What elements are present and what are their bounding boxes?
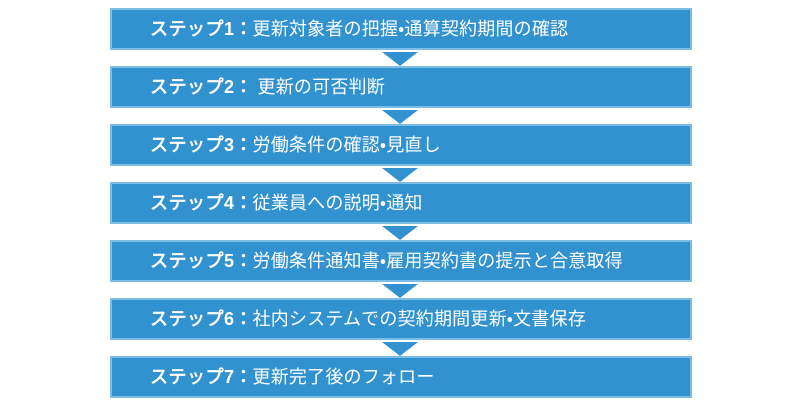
step-row: ステップ1：更新対象者の把握・通算契約期間の確認 bbox=[0, 0, 800, 58]
step-bar-1[interactable]: ステップ1：更新対象者の把握・通算契約期間の確認 bbox=[110, 8, 692, 50]
step-row: ステップ7：更新完了後のフォロー bbox=[0, 348, 800, 406]
step-separator: ： bbox=[235, 251, 253, 271]
step-row: ステップ5：労働条件通知書・雇用契約書の提示と合意取得 bbox=[0, 232, 800, 290]
step-separator: ： bbox=[235, 77, 258, 97]
step-index-label: ステップ7 bbox=[150, 367, 235, 387]
step-separator: ： bbox=[235, 135, 253, 155]
step-label-2: ステップ2： 更新の可否判断 bbox=[112, 78, 385, 97]
step-index-label: ステップ4 bbox=[150, 193, 235, 213]
step-row: ステップ6：社内システムでの契約期間更新・文書保存 bbox=[0, 290, 800, 348]
step-bar-3[interactable]: ステップ3：労働条件の確認・見直し bbox=[110, 124, 692, 166]
step-description: 労働条件の確認・見直し bbox=[253, 135, 441, 155]
step-description: 更新の可否判断 bbox=[258, 77, 385, 97]
step-index-label: ステップ5 bbox=[150, 251, 235, 271]
step-separator: ： bbox=[235, 367, 253, 387]
step-bar-5[interactable]: ステップ5：労働条件通知書・雇用契約書の提示と合意取得 bbox=[110, 240, 692, 282]
step-index-label: ステップ6 bbox=[150, 309, 235, 329]
step-label-6: ステップ6：社内システムでの契約期間更新・文書保存 bbox=[112, 310, 586, 329]
step-description: 更新完了後のフォロー bbox=[253, 367, 435, 387]
step-label-1: ステップ1：更新対象者の把握・通算契約期間の確認 bbox=[112, 20, 568, 39]
step-index-label: ステップ1 bbox=[150, 19, 235, 39]
step-separator: ： bbox=[235, 309, 253, 329]
step-label-5: ステップ5：労働条件通知書・雇用契約書の提示と合意取得 bbox=[112, 252, 623, 271]
step-description: 労働条件通知書・雇用契約書の提示と合意取得 bbox=[253, 251, 623, 271]
step-description: 更新対象者の把握・通算契約期間の確認 bbox=[253, 19, 569, 39]
step-bar-2[interactable]: ステップ2： 更新の可否判断 bbox=[110, 66, 692, 108]
step-label-7: ステップ7：更新完了後のフォロー bbox=[112, 368, 435, 387]
step-description: 社内システムでの契約期間更新・文書保存 bbox=[253, 309, 586, 329]
step-description: 従業員への説明・通知 bbox=[253, 193, 423, 213]
step-flow-diagram: ステップ1：更新対象者の把握・通算契約期間の確認 ステップ2： 更新の可否判断 … bbox=[0, 0, 800, 408]
step-label-3: ステップ3：労働条件の確認・見直し bbox=[112, 136, 441, 155]
step-label-4: ステップ4：従業員への説明・通知 bbox=[112, 194, 423, 213]
step-row: ステップ4：従業員への説明・通知 bbox=[0, 174, 800, 232]
step-separator: ： bbox=[235, 19, 253, 39]
step-row: ステップ3：労働条件の確認・見直し bbox=[0, 116, 800, 174]
step-bar-4[interactable]: ステップ4：従業員への説明・通知 bbox=[110, 182, 692, 224]
step-index-label: ステップ2 bbox=[150, 77, 235, 97]
step-bar-6[interactable]: ステップ6：社内システムでの契約期間更新・文書保存 bbox=[110, 298, 692, 340]
step-index-label: ステップ3 bbox=[150, 135, 235, 155]
step-row: ステップ2： 更新の可否判断 bbox=[0, 58, 800, 116]
step-separator: ： bbox=[235, 193, 253, 213]
step-bar-7[interactable]: ステップ7：更新完了後のフォロー bbox=[110, 356, 692, 398]
